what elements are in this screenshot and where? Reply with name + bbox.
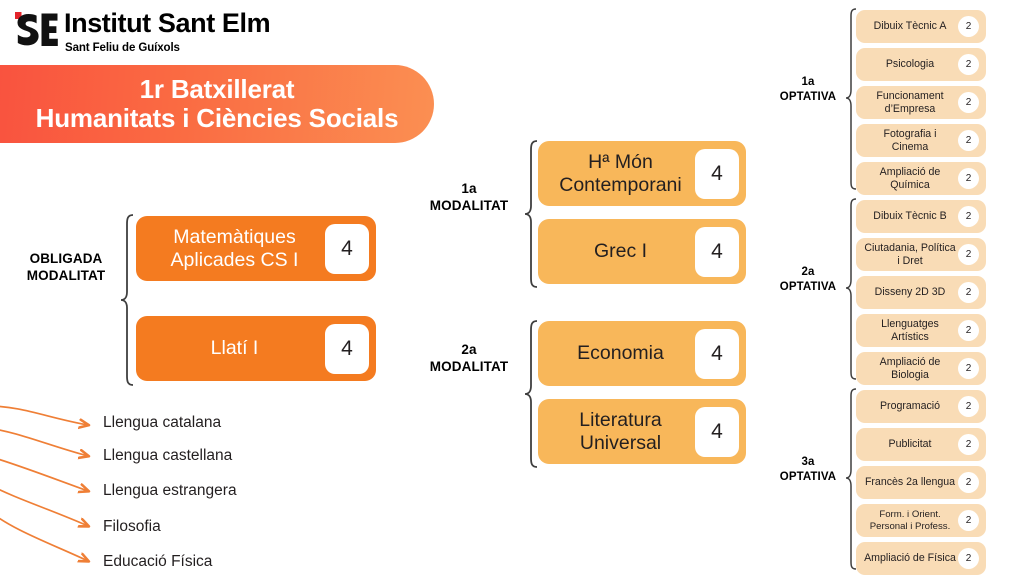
obligada-label-line1: OBLIGADA	[12, 250, 120, 267]
modalitat-2-label: 2a MODALITAT	[414, 341, 524, 376]
pill-optativa3-1[interactable]: Publicitat 2	[856, 428, 986, 461]
title-banner: 1r Batxillerat Humanitats i Ciències Soc…	[0, 65, 434, 143]
card-modalitat2-1[interactable]: Literatura Universal 4	[538, 399, 746, 464]
banner-title-line1: 1r Batxillerat	[140, 75, 295, 104]
pill-optativa3-0-name: Programació	[856, 400, 958, 413]
card-obligada-0-credits: 4	[325, 224, 369, 274]
common-subject-3: Filosofia	[103, 518, 161, 536]
pill-optativa3-3-name: Form. i Orient. Personal i Profess.	[856, 509, 958, 532]
pill-optativa3-0[interactable]: Programació 2	[856, 390, 986, 423]
pill-optativa3-2[interactable]: Francès 2a llengua 2	[856, 466, 986, 499]
obligada-brace-icon	[120, 214, 134, 386]
optativa-3-label: 3a OPTATIVA	[765, 455, 851, 484]
card-obligada-1-credits: 4	[325, 324, 369, 374]
pill-optativa1-4-name: Ampliació de Química	[856, 166, 958, 191]
pill-optativa3-3-credits: 2	[958, 510, 979, 531]
common-subject-4: Educació Física	[103, 553, 212, 571]
pill-optativa2-3[interactable]: Llenguatges Artístics 2	[856, 314, 986, 347]
card-modalitat1-0-name: Hª Món Contemporani	[538, 151, 695, 197]
card-modalitat2-0[interactable]: Economia 4	[538, 321, 746, 386]
pill-optativa2-2-name: Disseny 2D 3D	[856, 286, 958, 299]
pill-optativa3-4-credits: 2	[958, 548, 979, 569]
optativa-1-label: 1a OPTATIVA	[765, 75, 851, 104]
pill-optativa2-1-name: Ciutadania, Política i Dret	[856, 242, 958, 267]
pill-optativa1-0[interactable]: Dibuix Tècnic A 2	[856, 10, 986, 43]
card-modalitat2-0-name: Economia	[538, 342, 695, 365]
pill-optativa2-1-credits: 2	[958, 244, 979, 265]
pill-optativa2-1[interactable]: Ciutadania, Política i Dret 2	[856, 238, 986, 271]
optativa-3-label-line2: OPTATIVA	[765, 470, 851, 485]
card-modalitat2-1-name: Literatura Universal	[538, 409, 695, 455]
pill-optativa2-4-credits: 2	[958, 358, 979, 379]
pill-optativa2-0-credits: 2	[958, 206, 979, 227]
card-modalitat2-0-credits: 4	[695, 329, 739, 379]
pill-optativa1-4[interactable]: Ampliació de Química 2	[856, 162, 986, 195]
pill-optativa2-2-credits: 2	[958, 282, 979, 303]
card-obligada-1[interactable]: Llatí I 4	[136, 316, 376, 381]
common-subjects-arrows-icon	[0, 398, 110, 576]
pill-optativa3-1-credits: 2	[958, 434, 979, 455]
optativa-3-label-line1: 3a	[765, 455, 851, 470]
pill-optativa2-2[interactable]: Disseny 2D 3D 2	[856, 276, 986, 309]
card-obligada-0[interactable]: Matemàtiques Aplicades CS I 4	[136, 216, 376, 281]
common-subject-1: Llengua castellana	[103, 447, 232, 465]
pill-optativa2-4-name: Ampliació de Biologia	[856, 356, 958, 381]
optativa-2-label-line2: OPTATIVA	[765, 280, 851, 295]
banner-title-line2: Humanitats i Ciències Socials	[36, 104, 399, 133]
pill-optativa2-0-name: Dibuix Tècnic B	[856, 210, 958, 223]
pill-optativa1-3[interactable]: Fotografia i Cinema 2	[856, 124, 986, 157]
slide-canvas: Institut Sant Elm Sant Feliu de Guíxols …	[0, 0, 1024, 576]
card-modalitat1-0-credits: 4	[695, 149, 739, 199]
common-subject-0: Llengua catalana	[103, 414, 221, 432]
pill-optativa3-4[interactable]: Ampliació de Física 2	[856, 542, 986, 575]
pill-optativa3-3[interactable]: Form. i Orient. Personal i Profess. 2	[856, 504, 986, 537]
pill-optativa2-4[interactable]: Ampliació de Biologia 2	[856, 352, 986, 385]
pill-optativa2-3-name: Llenguatges Artístics	[856, 318, 958, 343]
card-modalitat1-1-name: Grec I	[538, 240, 695, 263]
card-modalitat2-1-credits: 4	[695, 407, 739, 457]
brand-title: Institut Sant Elm	[64, 8, 270, 39]
optativa-1-label-line1: 1a	[765, 75, 851, 90]
pill-optativa3-4-name: Ampliació de Física	[856, 552, 958, 565]
pill-optativa1-0-name: Dibuix Tècnic A	[856, 20, 958, 33]
pill-optativa3-1-name: Publicitat	[856, 438, 958, 451]
modalitat-2-label-line1: 2a	[414, 341, 524, 358]
card-modalitat1-1-credits: 4	[695, 227, 739, 277]
card-obligada-1-name: Llatí I	[136, 337, 325, 360]
pill-optativa1-0-credits: 2	[958, 16, 979, 37]
pill-optativa1-4-credits: 2	[958, 168, 979, 189]
obligada-modalitat-label: OBLIGADA MODALITAT	[12, 250, 120, 285]
pill-optativa2-0[interactable]: Dibuix Tècnic B 2	[856, 200, 986, 233]
pill-optativa1-1[interactable]: Psicologia 2	[856, 48, 986, 81]
pill-optativa1-3-credits: 2	[958, 130, 979, 151]
brand-header: Institut Sant Elm Sant Feliu de Guíxols	[8, 6, 338, 58]
optativa-1-label-line2: OPTATIVA	[765, 90, 851, 105]
pill-optativa2-3-credits: 2	[958, 320, 979, 341]
modalitat-2-label-line2: MODALITAT	[414, 358, 524, 375]
modalitat-1-label-line1: 1a	[414, 180, 524, 197]
pill-optativa1-2-credits: 2	[958, 92, 979, 113]
modalitat-1-label: 1a MODALITAT	[414, 180, 524, 215]
modalitat-1-brace-icon	[524, 140, 538, 288]
optativa-2-label-line1: 2a	[765, 265, 851, 280]
pill-optativa3-2-credits: 2	[958, 472, 979, 493]
optativa-2-label: 2a OPTATIVA	[765, 265, 851, 294]
pill-optativa1-3-name: Fotografia i Cinema	[856, 128, 958, 153]
pill-optativa1-2-name: Funcionament d’Empresa	[856, 90, 958, 115]
card-modalitat1-1[interactable]: Grec I 4	[538, 219, 746, 284]
pill-optativa1-1-credits: 2	[958, 54, 979, 75]
pill-optativa1-1-name: Psicologia	[856, 58, 958, 71]
brand-subtitle: Sant Feliu de Guíxols	[65, 42, 180, 54]
pill-optativa3-0-credits: 2	[958, 396, 979, 417]
card-modalitat1-0[interactable]: Hª Món Contemporani 4	[538, 141, 746, 206]
obligada-label-line2: MODALITAT	[12, 267, 120, 284]
pill-optativa3-2-name: Francès 2a llengua	[856, 476, 958, 489]
modalitat-2-brace-icon	[524, 320, 538, 468]
modalitat-1-label-line2: MODALITAT	[414, 197, 524, 214]
card-obligada-0-name: Matemàtiques Aplicades CS I	[136, 226, 325, 272]
institut-sant-elm-monogram-icon	[12, 8, 58, 52]
common-subject-2: Llengua estrangera	[103, 482, 237, 500]
pill-optativa1-2[interactable]: Funcionament d’Empresa 2	[856, 86, 986, 119]
